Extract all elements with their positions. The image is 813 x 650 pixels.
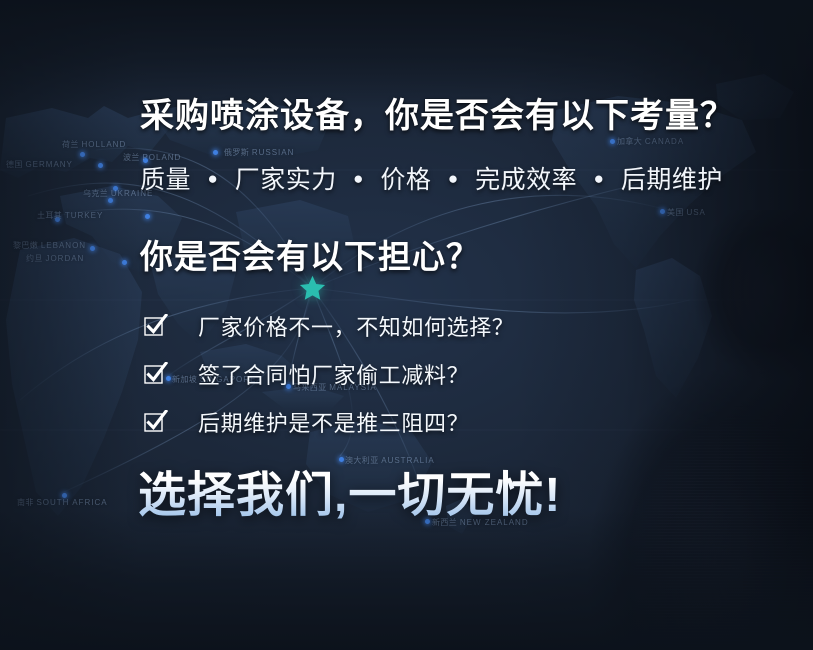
feature-item-maintenance: 后期维护 [621, 166, 723, 194]
bullet-separator-icon: ● [207, 169, 218, 189]
banner-content: 采购喷涂设备，你是否会有以下考量？ 质量 ● 厂家实力 ● 价格 ● 完成效率 … [0, 0, 813, 650]
checkbox-checked-icon [144, 362, 168, 385]
list-item: 厂家价格不一，不知如何选择？ [144, 305, 514, 346]
checkbox-checked-icon [144, 314, 168, 337]
main-headline: 采购喷涂设备，你是否会有以下考量？ [140, 88, 735, 137]
feature-item-strength: 厂家实力 [235, 166, 337, 194]
bullet-separator-icon: ● [353, 169, 364, 189]
feature-item-quality: 质量 [140, 166, 191, 194]
feature-item-price: 价格 [380, 166, 431, 194]
feature-list: 质量 ● 厂家实力 ● 价格 ● 完成效率 ● 后期维护 [140, 160, 723, 196]
list-item-label: 厂家价格不一，不知如何选择？ [198, 310, 514, 342]
promo-banner: 荷兰 HOLLAND 波兰 POLAND 德国 GERMANY 乌克兰 UKRA… [0, 0, 813, 650]
list-item: 签了合同怕厂家偷工减料？ [144, 353, 514, 394]
bullet-separator-icon: ● [594, 169, 605, 189]
concerns-checklist: 厂家价格不一，不知如何选择？ 签了合同怕厂家偷工减料？ [144, 305, 514, 449]
feature-item-efficiency: 完成效率 [475, 166, 577, 194]
list-item-label: 后期维护是不是推三阻四？ [198, 406, 469, 438]
secondary-headline: 你是否会有以下担心？ [140, 230, 480, 278]
list-item-label: 签了合同怕厂家偷工减料？ [198, 358, 469, 390]
list-item: 后期维护是不是推三阻四？ [144, 401, 514, 442]
slogan-text: 选择我们,一切无忧! [138, 455, 561, 525]
checkbox-checked-icon [144, 410, 168, 433]
bullet-separator-icon: ● [448, 169, 459, 189]
